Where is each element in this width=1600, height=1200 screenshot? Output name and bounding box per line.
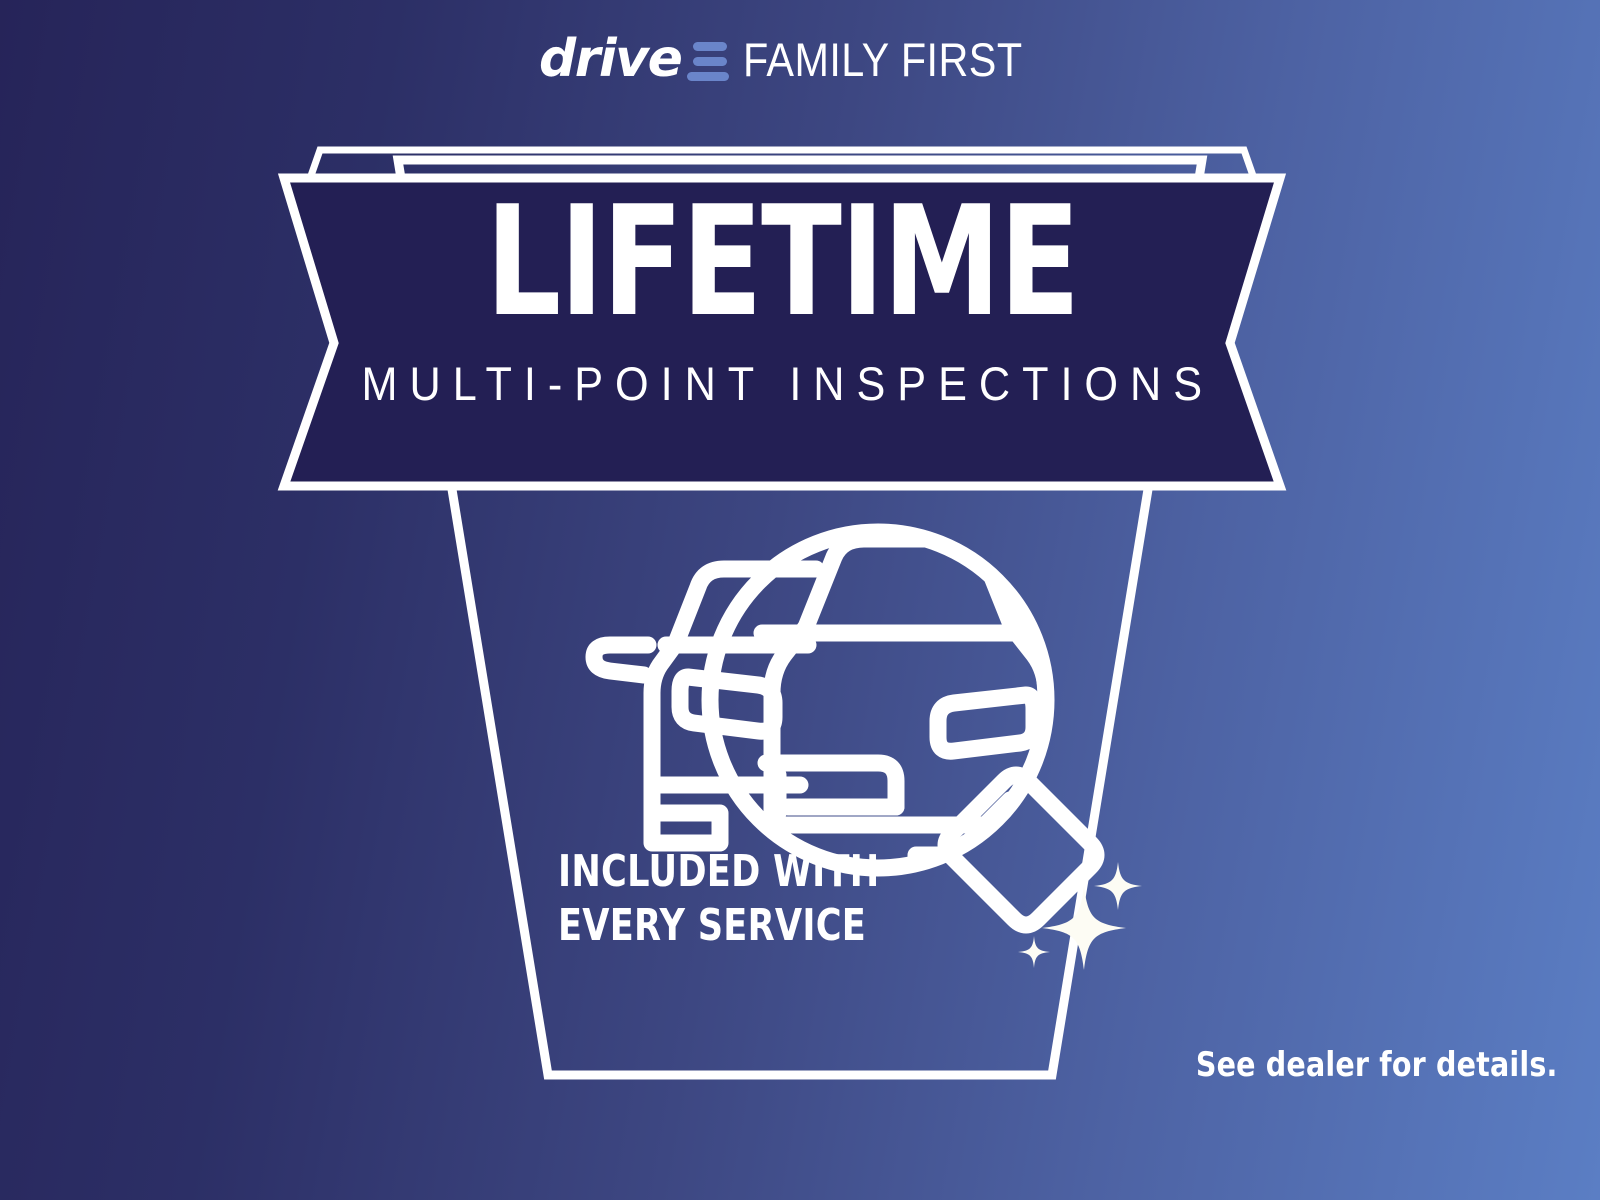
brand-lockup: drive FAMILY FIRST	[539, 29, 1061, 89]
brand-wordmark: drive	[539, 33, 681, 85]
magnified-car-detail	[762, 539, 1114, 885]
brand-tagline: FAMILY FIRST	[743, 36, 1023, 83]
included-with-every-service: INCLUDED WITH EVERY SERVICE	[558, 845, 879, 952]
sparkle-icon	[1010, 860, 1150, 980]
disclaimer-text: See dealer for details.	[1196, 1048, 1558, 1082]
three-bars-icon	[687, 38, 729, 81]
included-line-2: EVERY SERVICE	[558, 899, 879, 953]
included-line-1: INCLUDED WITH	[558, 845, 879, 899]
ribbon-banner	[262, 138, 1302, 518]
brand-header: drive FAMILY FIRST	[0, 0, 1600, 118]
ribbon-body	[284, 178, 1280, 486]
